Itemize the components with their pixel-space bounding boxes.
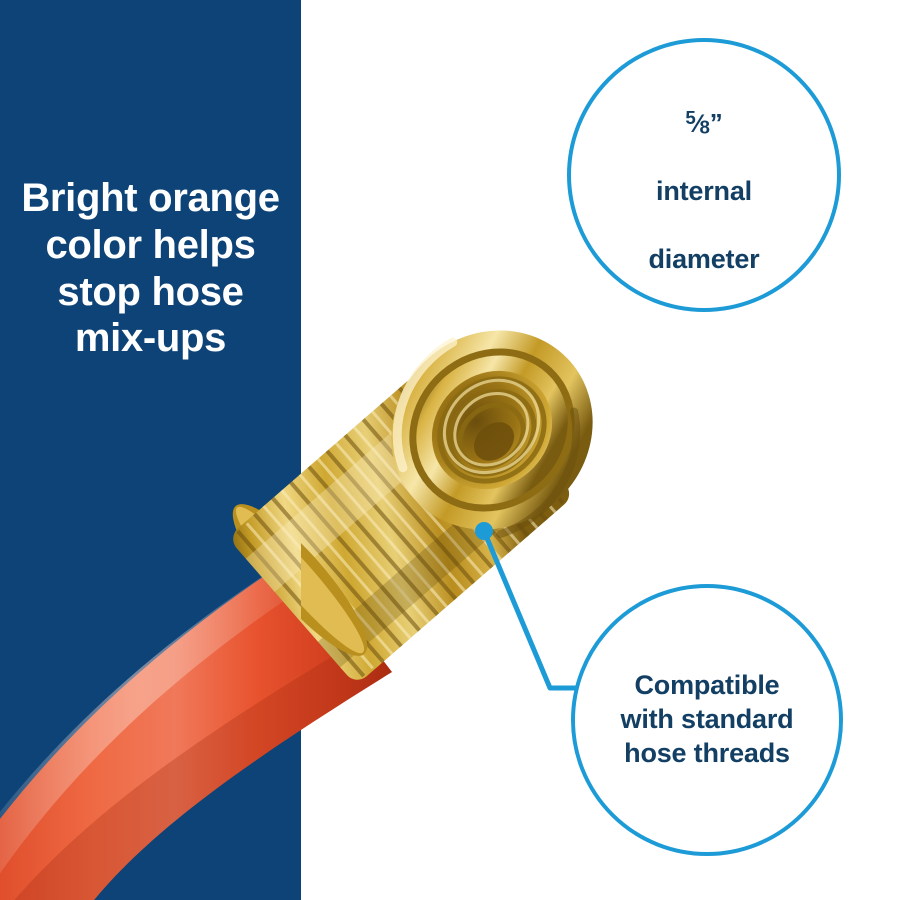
callout-internal-diameter[interactable]: 5⁄8” internal diameter — [567, 38, 841, 312]
callout-hose-threads[interactable]: Compatible with standard hose threads — [571, 584, 843, 856]
callout-line-internal: internal — [656, 176, 752, 206]
fraction-numerator: 5 — [685, 107, 695, 128]
callout-hose-threads-text: Compatible with standard hose threads — [621, 669, 794, 770]
left-navy-panel — [0, 0, 301, 900]
leader-dot — [475, 522, 493, 540]
fraction-denominator: 8 — [700, 116, 710, 137]
infographic-canvas: Bright orange color helps stop hose mix-… — [0, 0, 900, 900]
headline-text: Bright orange color helps stop hose mix-… — [0, 175, 301, 362]
fraction-five-eighths: 5⁄8” — [685, 109, 722, 138]
callout-line-diameter: diameter — [649, 244, 760, 274]
leader-polyline — [484, 531, 576, 688]
inch-mark: ” — [710, 108, 723, 138]
callout-internal-diameter-text: 5⁄8” internal diameter — [649, 74, 760, 277]
